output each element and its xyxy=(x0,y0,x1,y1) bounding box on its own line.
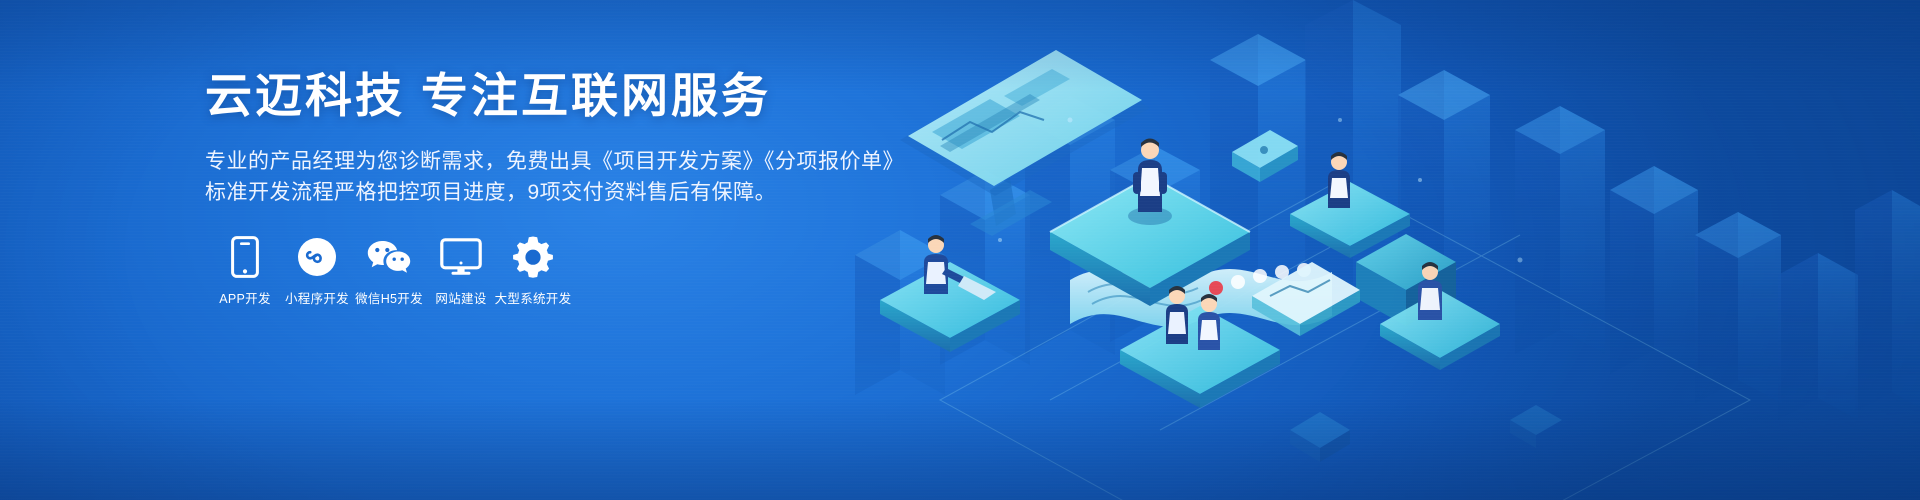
service-item-website[interactable]: 网站建设 xyxy=(425,234,497,306)
person-bottom-b xyxy=(1198,294,1220,350)
isometric-tech-city-illustration xyxy=(820,0,1920,500)
gear-icon xyxy=(512,234,554,280)
hero-banner: 云迈科技 专注互联网服务 专业的产品经理为您诊断需求，免费出具《项目开发方案》《… xyxy=(0,0,1920,500)
service-item-app[interactable]: APP开发 xyxy=(209,234,281,306)
banner-subtitle: 专业的产品经理为您诊断需求，免费出具《项目开发方案》《分项报价单》 标准开发流程… xyxy=(205,146,905,208)
service-item-wechat[interactable]: 微信H5开发 xyxy=(353,234,425,306)
person-on-platform xyxy=(1128,139,1172,226)
service-label-wechat: 微信H5开发 xyxy=(355,292,423,306)
service-item-system[interactable]: 大型系统开发 xyxy=(497,234,569,306)
banner-title: 云迈科技 专注互联网服务 xyxy=(205,72,771,119)
service-label-miniprogram: 小程序开发 xyxy=(285,292,349,306)
mini-program-icon xyxy=(297,234,337,280)
service-item-miniprogram[interactable]: 小程序开发 xyxy=(281,234,353,306)
banner-subtitle-line-1: 专业的产品经理为您诊断需求，免费出具《项目开发方案》《分项报价单》 xyxy=(205,146,905,177)
mobile-phone-icon xyxy=(231,234,259,280)
monitor-icon xyxy=(440,234,482,280)
foreground-cubes xyxy=(1290,405,1562,462)
service-label-system: 大型系统开发 xyxy=(495,292,572,306)
banner-subtitle-line-2: 标准开发流程严格把控项目进度，9项交付资料售后有保障。 xyxy=(205,177,905,208)
service-label-app: APP开发 xyxy=(219,292,271,306)
wechat-icon xyxy=(366,234,412,280)
person-bottom-a xyxy=(1166,286,1188,344)
service-label-website: 网站建设 xyxy=(435,292,486,306)
service-icon-list: APP开发 小程序开发 xyxy=(209,234,569,306)
illustration-area xyxy=(820,0,1920,500)
banner-content: 云迈科技 专注互联网服务 专业的产品经理为您诊断需求，免费出具《项目开发方案》《… xyxy=(205,0,965,500)
person-right-upper xyxy=(1328,152,1350,208)
